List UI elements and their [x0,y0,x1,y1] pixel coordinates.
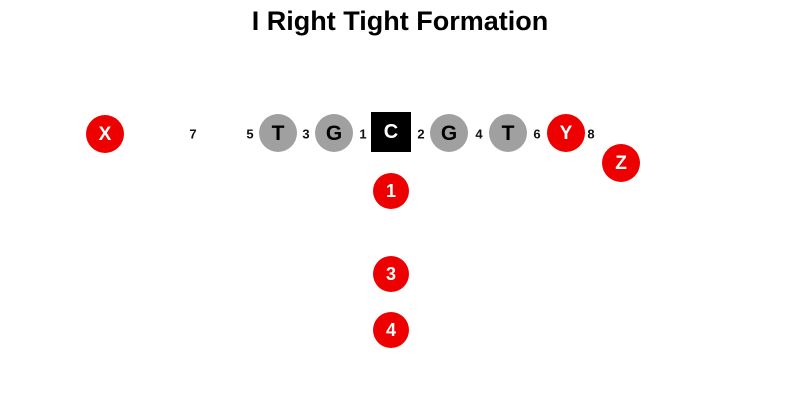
player-back-4[interactable]: 4 [373,312,409,348]
player-right-guard[interactable]: G [430,114,468,152]
gap-label-3-2: 3 [302,128,309,141]
player-left-tackle[interactable]: T [259,114,297,152]
player-left-guard[interactable]: G [315,114,353,152]
gap-label-6-6: 6 [533,128,540,141]
gap-label-4-5: 4 [475,128,482,141]
page-title: I Right Tight Formation [0,6,800,37]
player-back-3[interactable]: 3 [373,256,409,292]
gap-label-1-3: 1 [359,128,366,141]
gap-label-8-7: 8 [587,128,594,141]
player-right-tackle[interactable]: T [489,114,527,152]
gap-label-2-4: 2 [417,128,424,141]
player-center[interactable]: C [371,112,411,152]
gap-label-7-0: 7 [189,128,196,141]
player-x-receiver[interactable]: X [86,115,124,153]
player-back-1[interactable]: 1 [373,173,409,209]
player-y-tight-end[interactable]: Y [547,114,585,152]
gap-label-5-1: 5 [246,128,253,141]
formation-diagram: I Right Tight Formation XTGCGTYZ134 7531… [0,0,800,400]
player-z-receiver[interactable]: Z [602,144,640,182]
